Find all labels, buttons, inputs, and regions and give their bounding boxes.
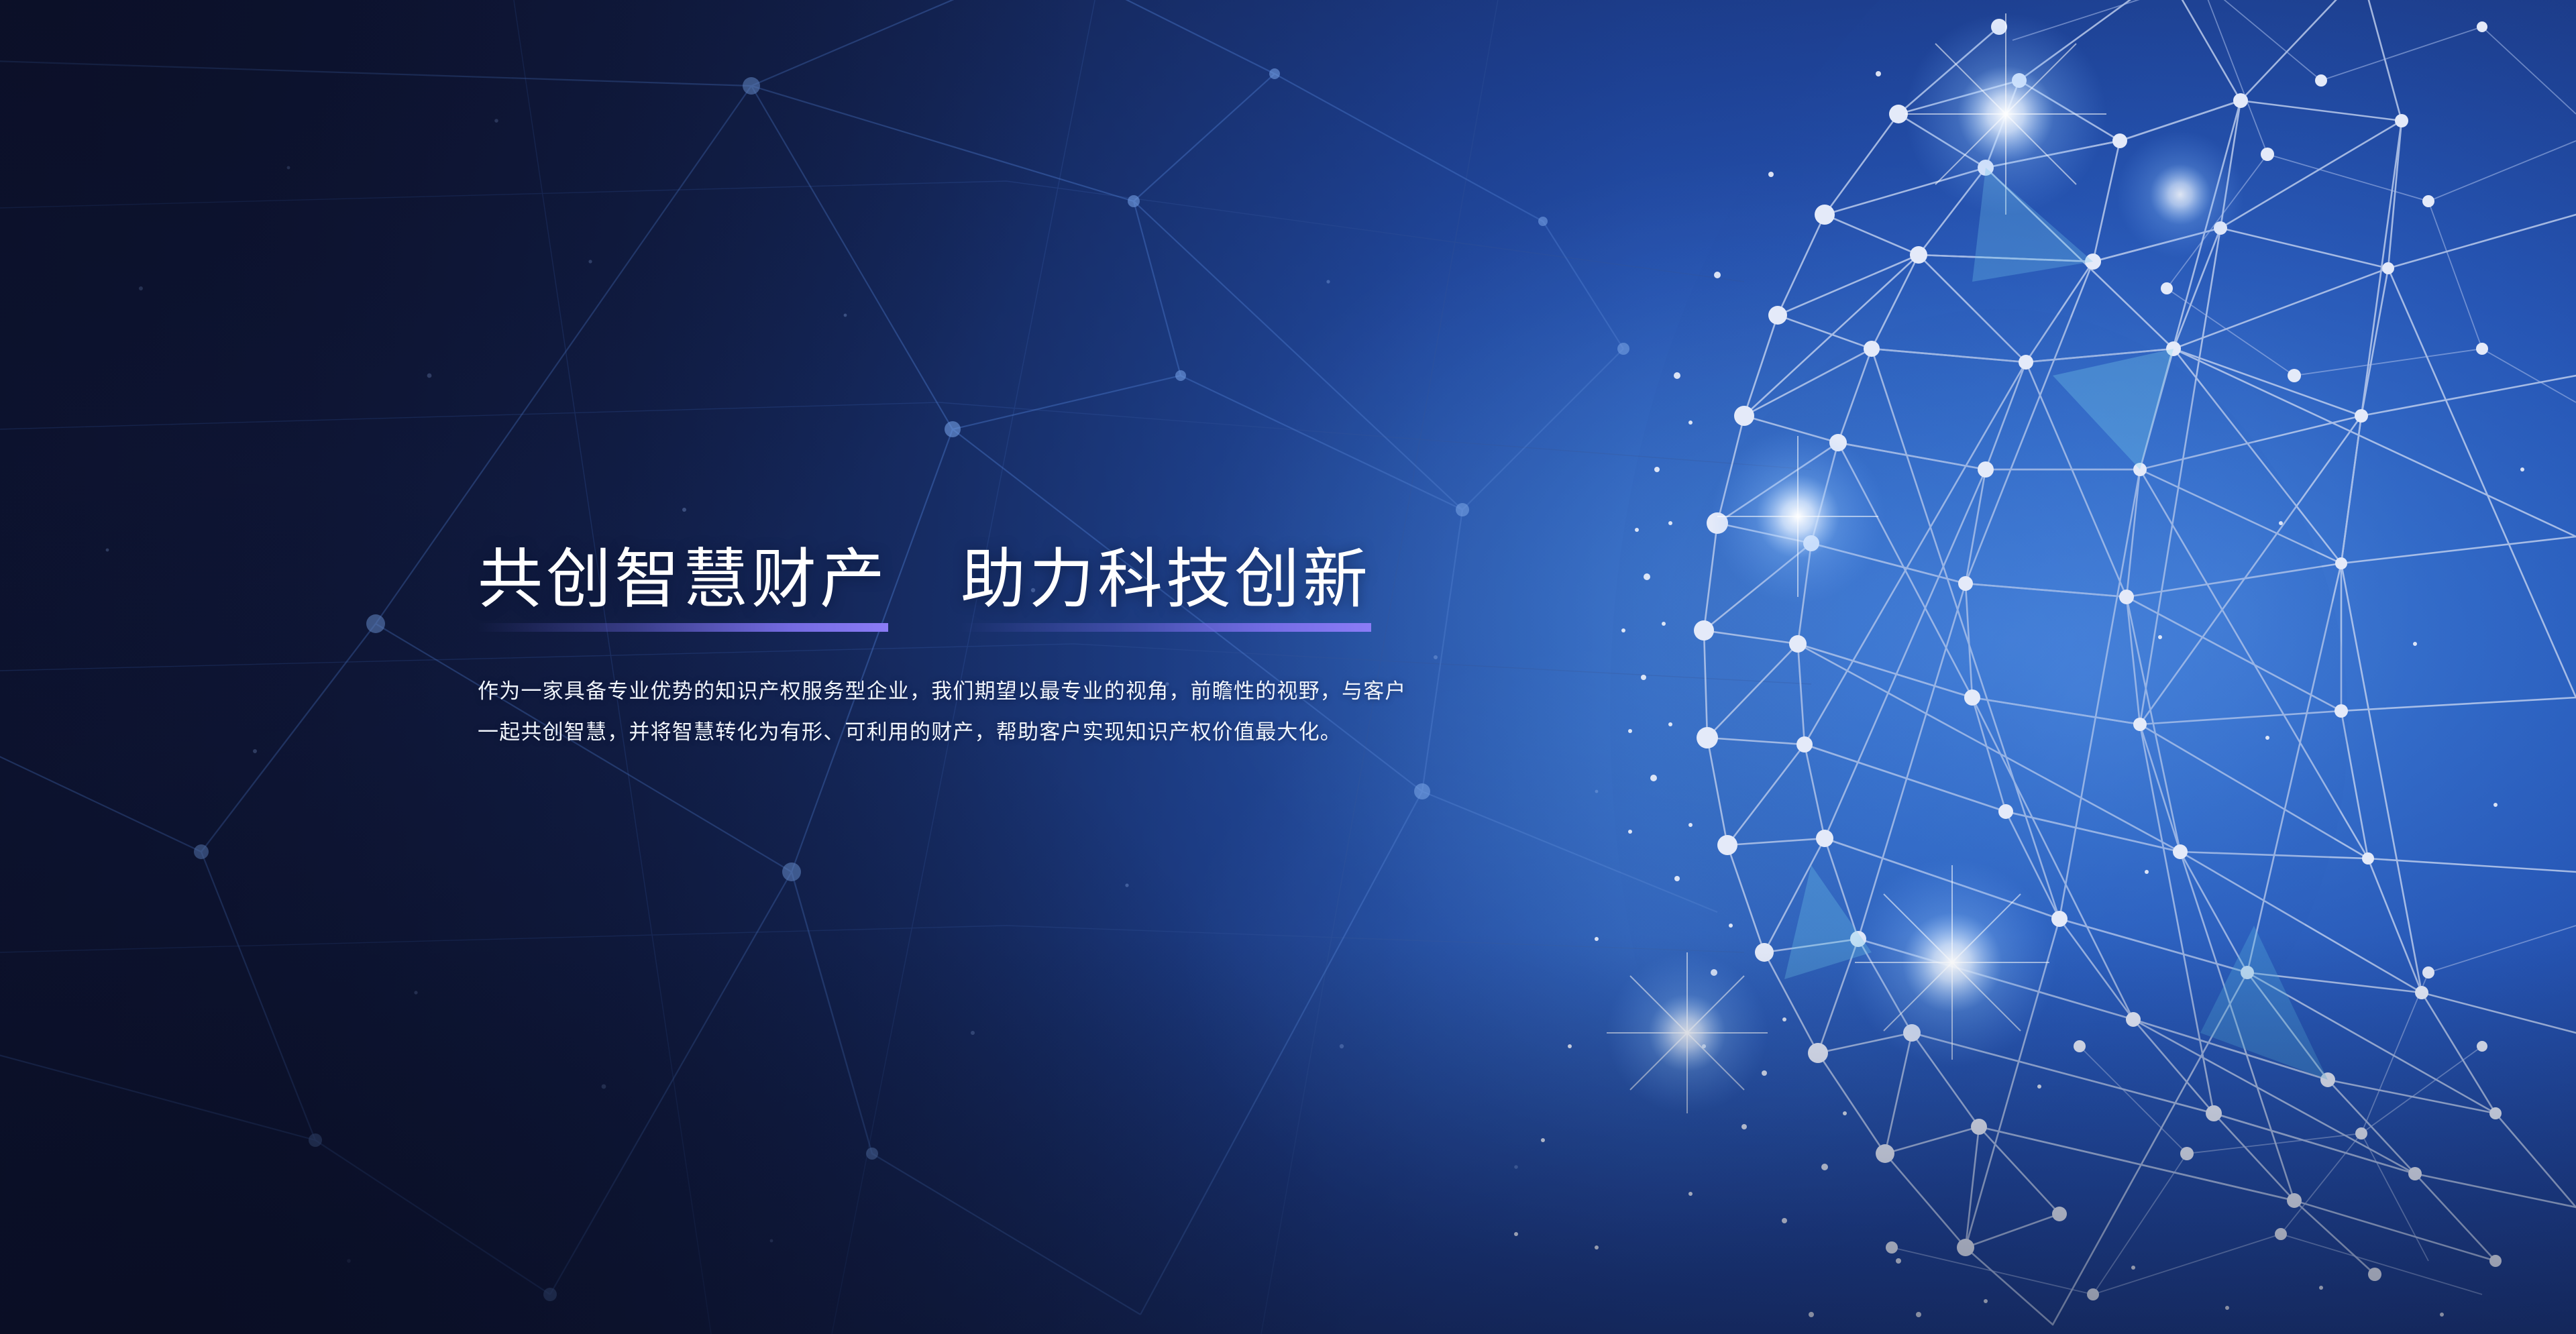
headline: 共创智慧财产 助力科技创新	[478, 545, 1430, 614]
hero-paragraph: 作为一家具备专业优势的知识产权服务型企业，我们期望以最专业的视角，前瞻性的视野，…	[478, 671, 1417, 753]
headline-segment-2: 助力科技创新	[961, 545, 1371, 614]
headline-text-1: 共创智慧财产	[478, 545, 888, 614]
hero-banner: 共创智慧财产 助力科技创新 作为一家具备专业优势的知识产权服务型企业，我们期望以…	[0, 0, 2576, 1334]
headline-segment-1: 共创智慧财产	[478, 545, 888, 614]
headline-text-2: 助力科技创新	[961, 545, 1371, 614]
headline-underline-2	[961, 623, 1371, 632]
headline-underline-1	[478, 623, 888, 632]
hero-copy: 共创智慧财产 助力科技创新 作为一家具备专业优势的知识产权服务型企业，我们期望以…	[478, 545, 1430, 774]
